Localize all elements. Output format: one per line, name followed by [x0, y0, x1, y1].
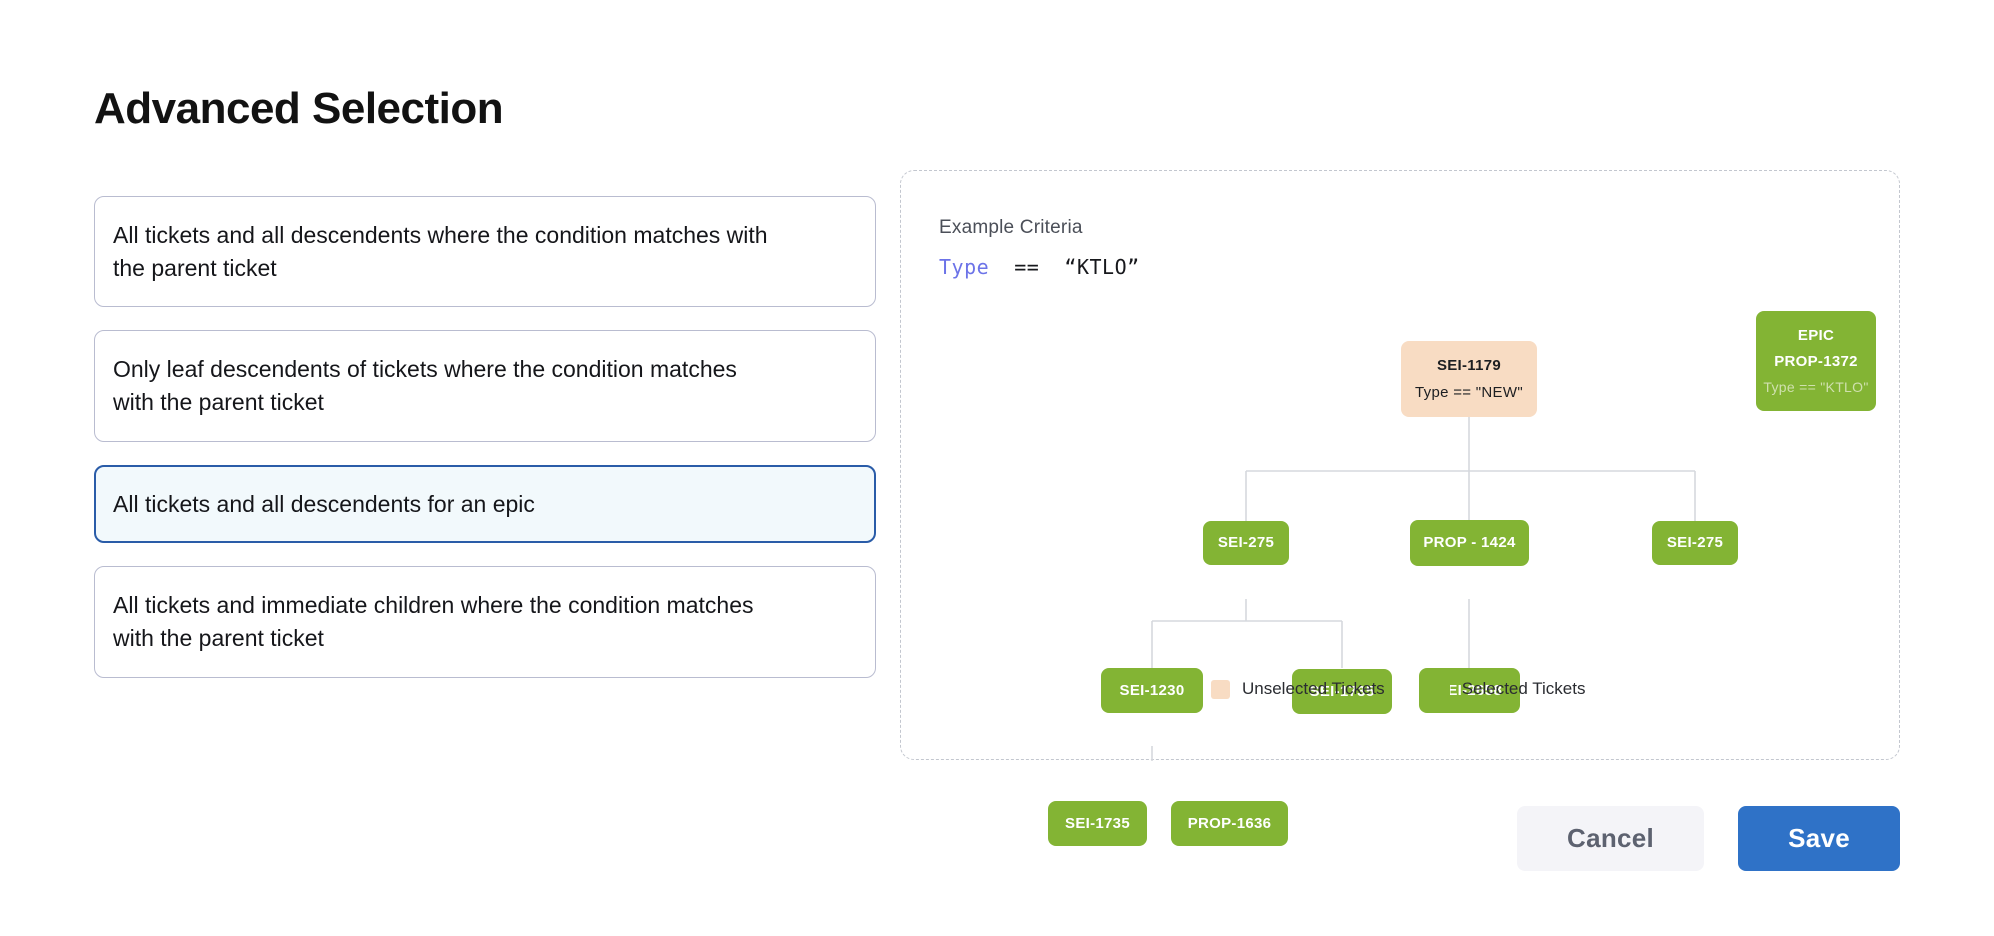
page-title: Advanced Selection — [94, 85, 503, 133]
option-label: Only leaf descendents of tickets where t… — [113, 353, 773, 418]
option-card-epic-descendents[interactable]: All tickets and all descendents for an e… — [94, 465, 876, 544]
selection-options-list: All tickets and all descendents where th… — [94, 196, 876, 701]
node-line-1: SEI-1179 — [1437, 357, 1501, 374]
unselected-swatch-icon — [1211, 680, 1230, 699]
tree-node-sei-275-a[interactable]: SEI-275 — [1203, 521, 1289, 565]
legend-item-unselected: Unselected Tickets — [1211, 679, 1385, 699]
legend-label: Selected Tickets — [1462, 679, 1586, 699]
dialog-footer: Cancel Save — [1517, 806, 1900, 871]
node-line-1: PROP-1636 — [1188, 815, 1272, 832]
tree-connectors — [901, 171, 1901, 761]
option-label: All tickets and immediate children where… — [113, 589, 773, 654]
node-line-1: SEI-1735 — [1065, 815, 1130, 832]
node-line-1: PROP - 1424 — [1423, 534, 1515, 551]
node-line-1: SEI-275 — [1667, 534, 1723, 551]
legend-item-selected: Selected Tickets — [1431, 679, 1586, 699]
tree-node-prop-1636[interactable]: PROP-1636 — [1171, 801, 1288, 846]
cancel-button[interactable]: Cancel — [1517, 806, 1704, 871]
selected-swatch-icon — [1431, 680, 1450, 699]
option-label: All tickets and all descendents for an e… — [113, 488, 535, 521]
tree-node-sei-1179[interactable]: SEI-1179 Type == "NEW" — [1401, 341, 1537, 417]
tree-node-sei-1230[interactable]: SEI-1230 — [1101, 668, 1203, 713]
node-line-2: PROP-1372 — [1774, 353, 1858, 370]
option-card-all-descendents[interactable]: All tickets and all descendents where th… — [94, 196, 876, 307]
example-diagram-panel: Example Criteria Type == “KTLO” — [900, 170, 1900, 760]
node-line-2: Type == "NEW" — [1415, 384, 1523, 401]
save-button[interactable]: Save — [1738, 806, 1900, 871]
tree-node-sei-1735-b[interactable]: SEI-1735 — [1048, 801, 1147, 846]
option-card-leaf-descendents[interactable]: Only leaf descendents of tickets where t… — [94, 330, 876, 441]
option-card-immediate-children[interactable]: All tickets and immediate children where… — [94, 566, 876, 677]
node-line-1: SEI-1230 — [1120, 682, 1185, 699]
diagram-legend: Unselected Tickets Selected Tickets — [1211, 679, 1585, 699]
node-line-1: EPIC — [1798, 327, 1834, 344]
tree-node-prop-1424[interactable]: PROP - 1424 — [1410, 520, 1529, 566]
node-line-3: Type == "KTLO" — [1763, 379, 1868, 395]
tree-node-epic-prop-1372[interactable]: EPIC PROP-1372 Type == "KTLO" — [1756, 311, 1876, 411]
tree-node-sei-275-b[interactable]: SEI-275 — [1652, 521, 1738, 565]
node-line-1: SEI-275 — [1218, 534, 1274, 551]
option-label: All tickets and all descendents where th… — [113, 219, 773, 284]
legend-label: Unselected Tickets — [1242, 679, 1385, 699]
